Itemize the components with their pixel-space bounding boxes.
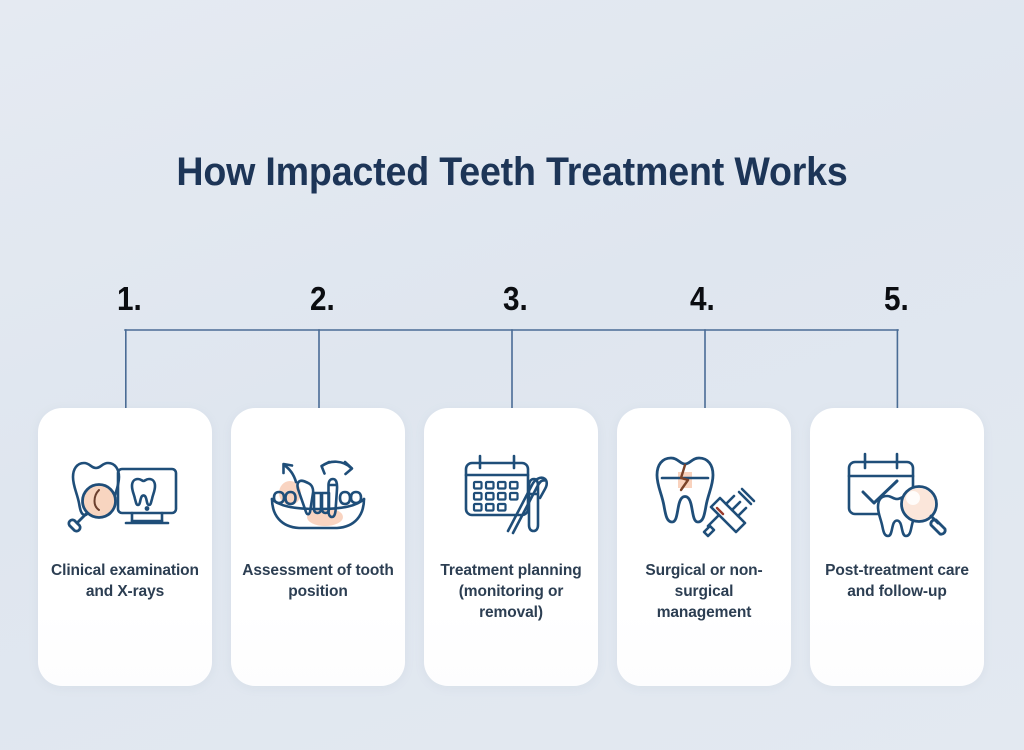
step-card-label-2: Assessment of tooth position: [241, 560, 395, 602]
step-card-1[interactable]: Clinical examination and X-rays: [38, 408, 212, 686]
steps-card-row: Clinical examination and X-rays: [0, 408, 1024, 686]
calendar-toothbrush-icon: [424, 446, 598, 542]
calendar-check-tooth-magnifier-icon: [810, 446, 984, 542]
connector-bracket: [0, 322, 1024, 412]
page-title: How Impacted Teeth Treatment Works: [31, 150, 994, 195]
step-card-label-1: Clinical examination and X-rays: [48, 560, 202, 602]
tooth-magnifier-monitor-icon: [38, 446, 212, 542]
jaw-tooth-position-arrows-icon: [231, 446, 405, 542]
step-number-1: 1.: [117, 280, 142, 318]
tooth-syringe-icon: [617, 446, 791, 542]
step-number-5: 5.: [884, 280, 909, 318]
step-card-label-4: Surgical or non-surgical management: [627, 560, 781, 623]
infographic-canvas: How Impacted Teeth Treatment Works 1. 2.…: [0, 0, 1024, 750]
step-card-5[interactable]: Post-treatment care and follow-up: [810, 408, 984, 686]
step-numbers-row: 1. 2. 3. 4. 5.: [0, 280, 1024, 322]
step-number-2: 2.: [310, 280, 335, 318]
step-card-2[interactable]: Assessment of tooth position: [231, 408, 405, 686]
step-number-3: 3.: [503, 280, 528, 318]
step-number-4: 4.: [690, 280, 715, 318]
connector-lines-svg: [0, 322, 1024, 412]
step-card-label-3: Treatment planning (monitoring or remova…: [434, 560, 588, 623]
step-card-4[interactable]: Surgical or non-surgical management: [617, 408, 791, 686]
step-card-3[interactable]: Treatment planning (monitoring or remova…: [424, 408, 598, 686]
step-card-label-5: Post-treatment care and follow-up: [820, 560, 974, 602]
